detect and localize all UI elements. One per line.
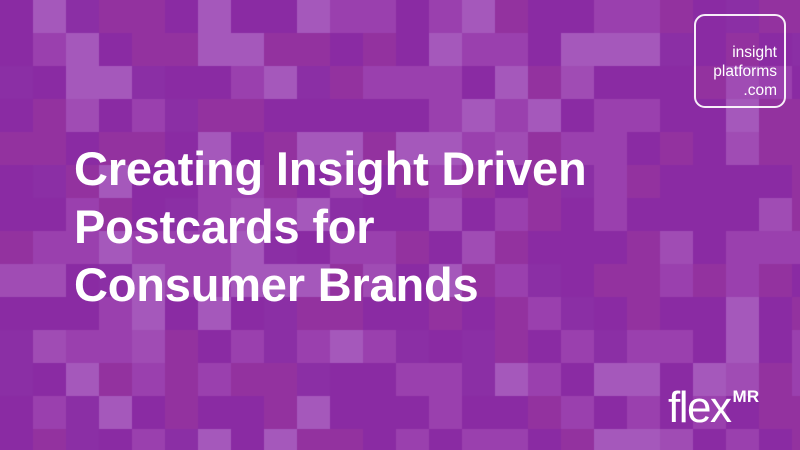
insight-platforms-line-2: platforms bbox=[713, 62, 777, 81]
flexmr-superscript: MR bbox=[732, 388, 759, 405]
title-line-2: Postcards for bbox=[74, 198, 694, 256]
presentation-slide: Creating Insight Driven Postcards for Co… bbox=[0, 0, 800, 450]
title-line-1: Creating Insight Driven bbox=[74, 140, 694, 198]
insight-platforms-line-1: insight bbox=[713, 43, 777, 62]
insight-platforms-logo-text: insight platforms .com bbox=[713, 43, 777, 100]
flexmr-wordmark: flex bbox=[668, 386, 730, 430]
insight-platforms-logo: insight platforms .com bbox=[694, 14, 786, 108]
slide-title: Creating Insight Driven Postcards for Co… bbox=[74, 140, 694, 314]
insight-platforms-line-3: .com bbox=[713, 81, 777, 100]
flexmr-logo: flex MR bbox=[668, 386, 759, 430]
title-line-3: Consumer Brands bbox=[74, 256, 694, 314]
